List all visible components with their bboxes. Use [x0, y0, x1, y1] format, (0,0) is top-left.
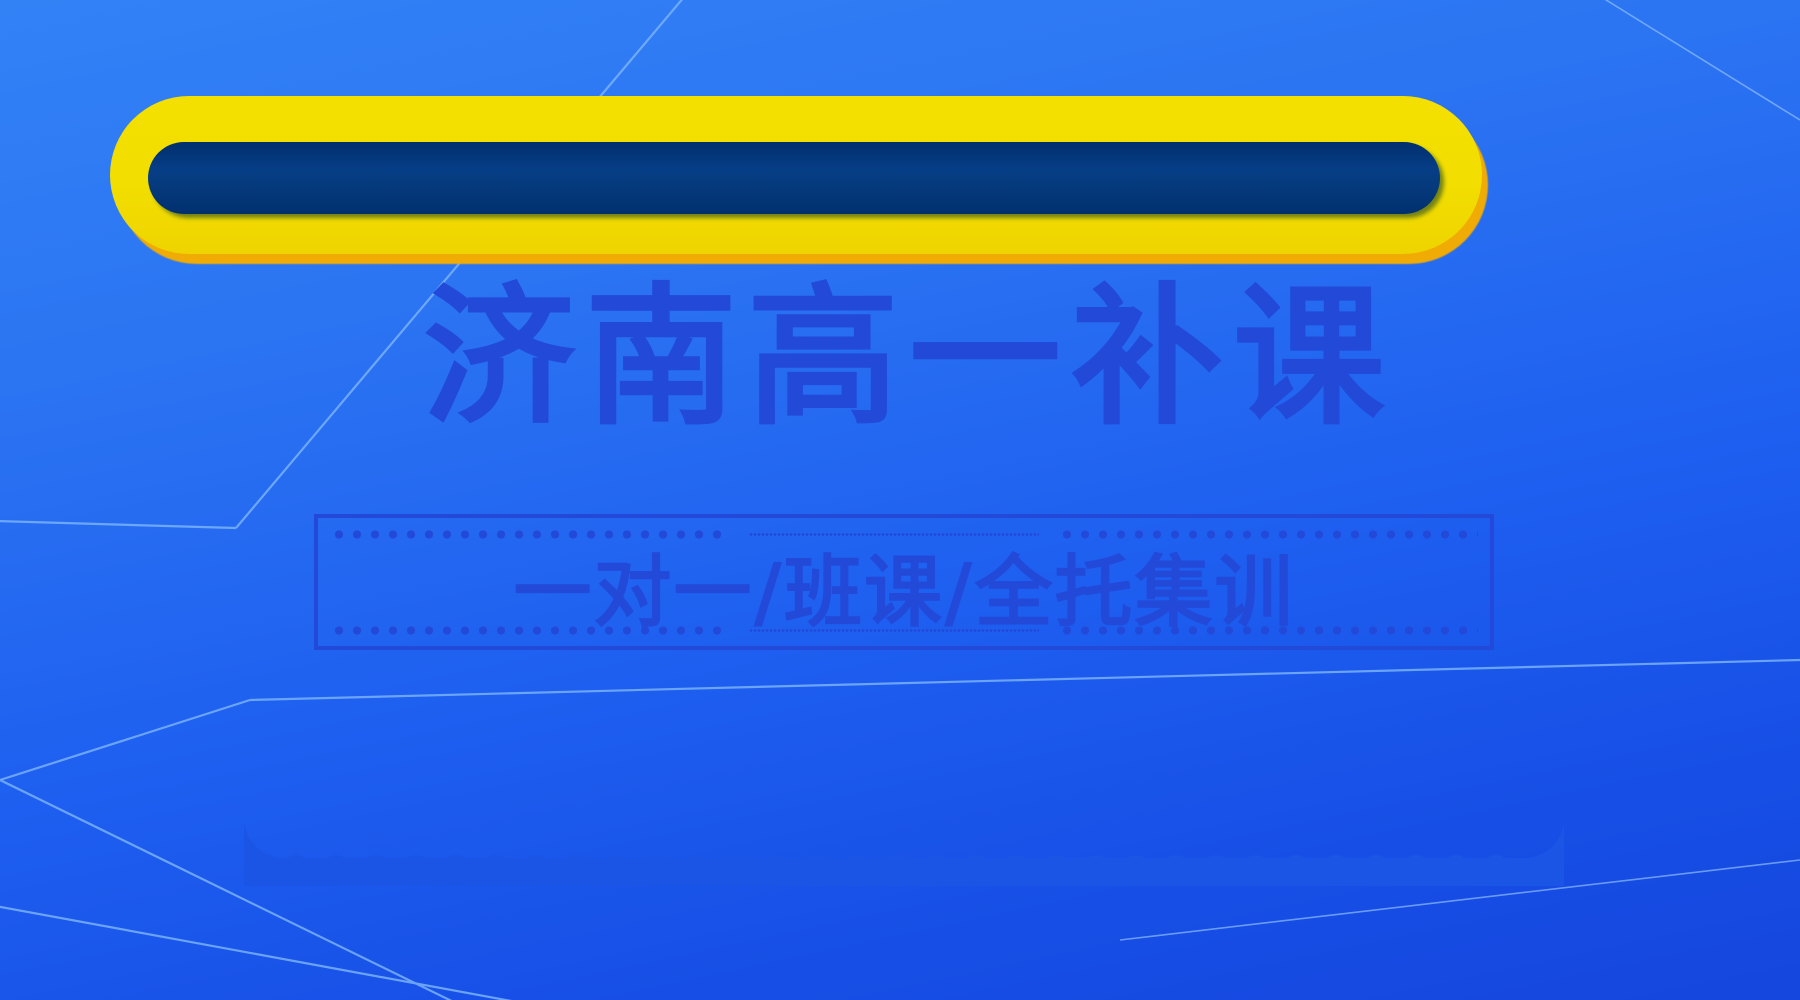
dot-segment-middle-bottom [749, 628, 1039, 633]
dot-segment-left-bottom [330, 626, 730, 635]
title-card: 济南高一补课 一对一/班课/全托集训 [244, 204, 1564, 886]
poster-subtitle: 一对一/班课/全托集训 [318, 544, 1490, 628]
dot-segment-right-bottom [1058, 626, 1478, 635]
dotted-border-bottom [330, 625, 1478, 635]
poster-headline: 济南高一补课 [274, 282, 1544, 434]
ticket-scallop-notches-icon [244, 840, 1564, 886]
poster-canvas: 济南高一补课 一对一/班课/全托集训 [0, 0, 1800, 1000]
subtitle-frame: 一对一/班课/全托集训 [314, 514, 1494, 650]
